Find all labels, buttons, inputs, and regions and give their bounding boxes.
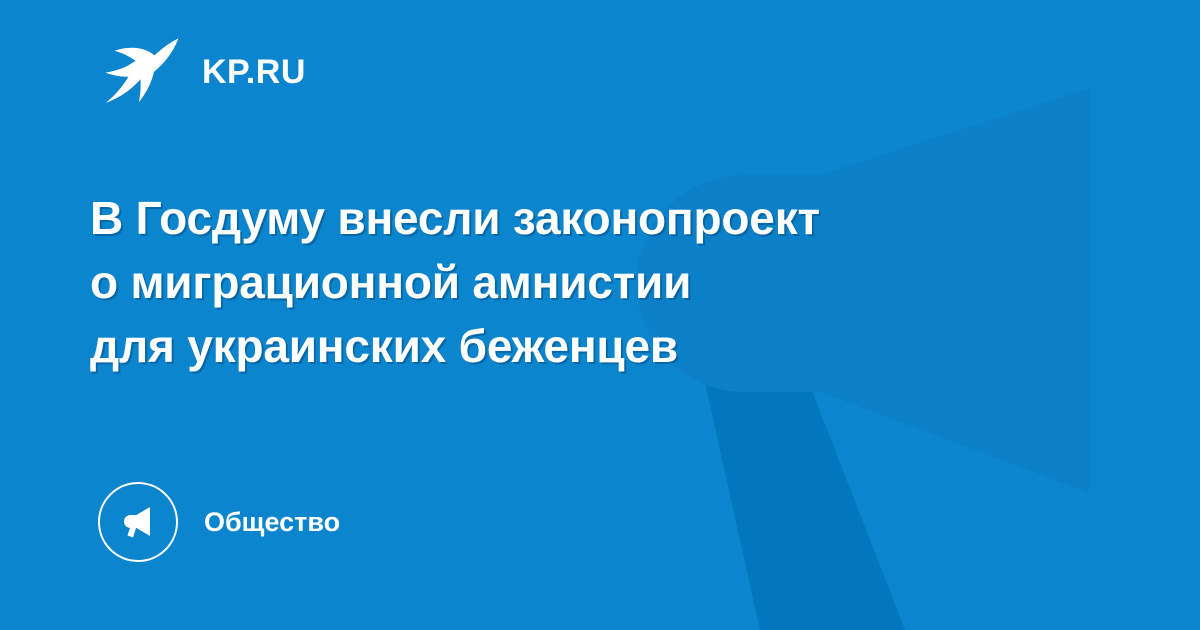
share-card: KP.RU В Госдуму внесли законопроект о ми… — [0, 0, 1200, 630]
category-label: Общество — [204, 509, 340, 536]
swallow-bird-icon — [104, 36, 180, 108]
headline-line-1: В Госдуму внесли законопроект — [90, 186, 1100, 250]
brand-logo[interactable]: KP.RU — [104, 36, 306, 108]
category-tag[interactable]: Общество — [98, 482, 340, 562]
megaphone-icon — [118, 502, 158, 542]
headline-line-3: для украинских беженцев — [90, 314, 1100, 378]
brand-name: KP.RU — [202, 55, 306, 89]
headline-line-2: о миграционной амнистии — [90, 250, 1100, 314]
category-badge — [98, 482, 178, 562]
page-title: В Госдуму внесли законопроект о миграцио… — [90, 186, 1100, 378]
